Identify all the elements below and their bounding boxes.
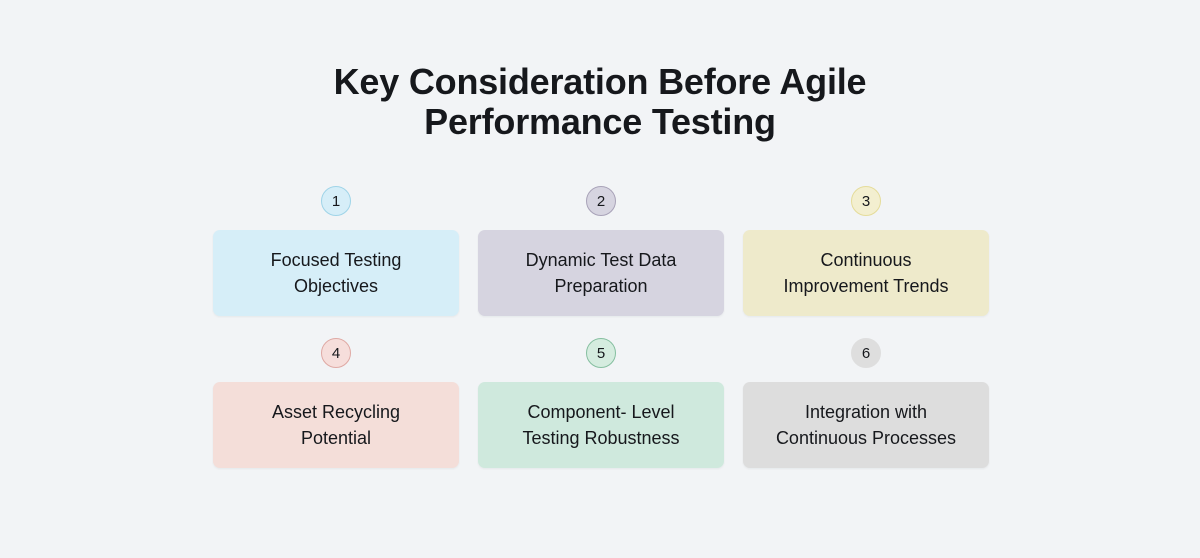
consideration-card-4: Asset Recycling Potential xyxy=(213,382,459,468)
consideration-card-4-line-2: Potential xyxy=(301,428,371,448)
consideration-card-1-line-1: Focused Testing xyxy=(271,250,402,270)
consideration-card-3-label: Continuous Improvement Trends xyxy=(783,247,948,299)
consideration-card-6-label: Integration with Continuous Processes xyxy=(776,399,956,451)
consideration-card-3-line-2: Improvement Trends xyxy=(783,276,948,296)
consideration-card-2-label: Dynamic Test Data Preparation xyxy=(526,247,677,299)
consideration-card-4-label: Asset Recycling Potential xyxy=(272,399,400,451)
consideration-card-1-line-2: Objectives xyxy=(294,276,378,296)
step-number-badge-2: 2 xyxy=(586,186,616,216)
consideration-card-2-line-1: Dynamic Test Data xyxy=(526,250,677,270)
consideration-card-2: Dynamic Test Data Preparation xyxy=(478,230,724,316)
page-title-line-2: Performance Testing xyxy=(0,102,1200,142)
consideration-card-6-line-1: Integration with xyxy=(805,402,927,422)
consideration-item-6: 6 Integration with Continuous Processes xyxy=(743,338,989,468)
consideration-card-3: Continuous Improvement Trends xyxy=(743,230,989,316)
step-number-badge-5: 5 xyxy=(586,338,616,368)
consideration-card-3-line-1: Continuous xyxy=(820,250,911,270)
consideration-card-1: Focused Testing Objectives xyxy=(213,230,459,316)
consideration-item-5: 5 Component- Level Testing Robustness xyxy=(478,338,724,468)
consideration-row-1: 1 Focused Testing Objectives 2 Dynamic T… xyxy=(213,186,989,316)
consideration-item-1: 1 Focused Testing Objectives xyxy=(213,186,459,316)
step-number-badge-1: 1 xyxy=(321,186,351,216)
consideration-card-5-line-1: Component- Level xyxy=(527,402,674,422)
page-title-line-1: Key Consideration Before Agile xyxy=(0,62,1200,102)
step-number-badge-6: 6 xyxy=(851,338,881,368)
consideration-card-5-label: Component- Level Testing Robustness xyxy=(522,399,679,451)
consideration-card-1-label: Focused Testing Objectives xyxy=(271,247,402,299)
step-number-badge-3: 3 xyxy=(851,186,881,216)
consideration-item-3: 3 Continuous Improvement Trends xyxy=(743,186,989,316)
consideration-card-5-line-2: Testing Robustness xyxy=(522,428,679,448)
page-title: Key Consideration Before Agile Performan… xyxy=(0,62,1200,143)
step-number-badge-4: 4 xyxy=(321,338,351,368)
consideration-row-2: 4 Asset Recycling Potential 5 Component-… xyxy=(213,338,989,468)
consideration-item-2: 2 Dynamic Test Data Preparation xyxy=(478,186,724,316)
consideration-card-4-line-1: Asset Recycling xyxy=(272,402,400,422)
consideration-card-5: Component- Level Testing Robustness xyxy=(478,382,724,468)
consideration-item-4: 4 Asset Recycling Potential xyxy=(213,338,459,468)
consideration-card-6-line-2: Continuous Processes xyxy=(776,428,956,448)
consideration-card-6: Integration with Continuous Processes xyxy=(743,382,989,468)
consideration-grid: 1 Focused Testing Objectives 2 Dynamic T… xyxy=(213,186,989,468)
infographic-root: Key Consideration Before Agile Performan… xyxy=(0,0,1200,558)
consideration-card-2-line-2: Preparation xyxy=(554,276,647,296)
